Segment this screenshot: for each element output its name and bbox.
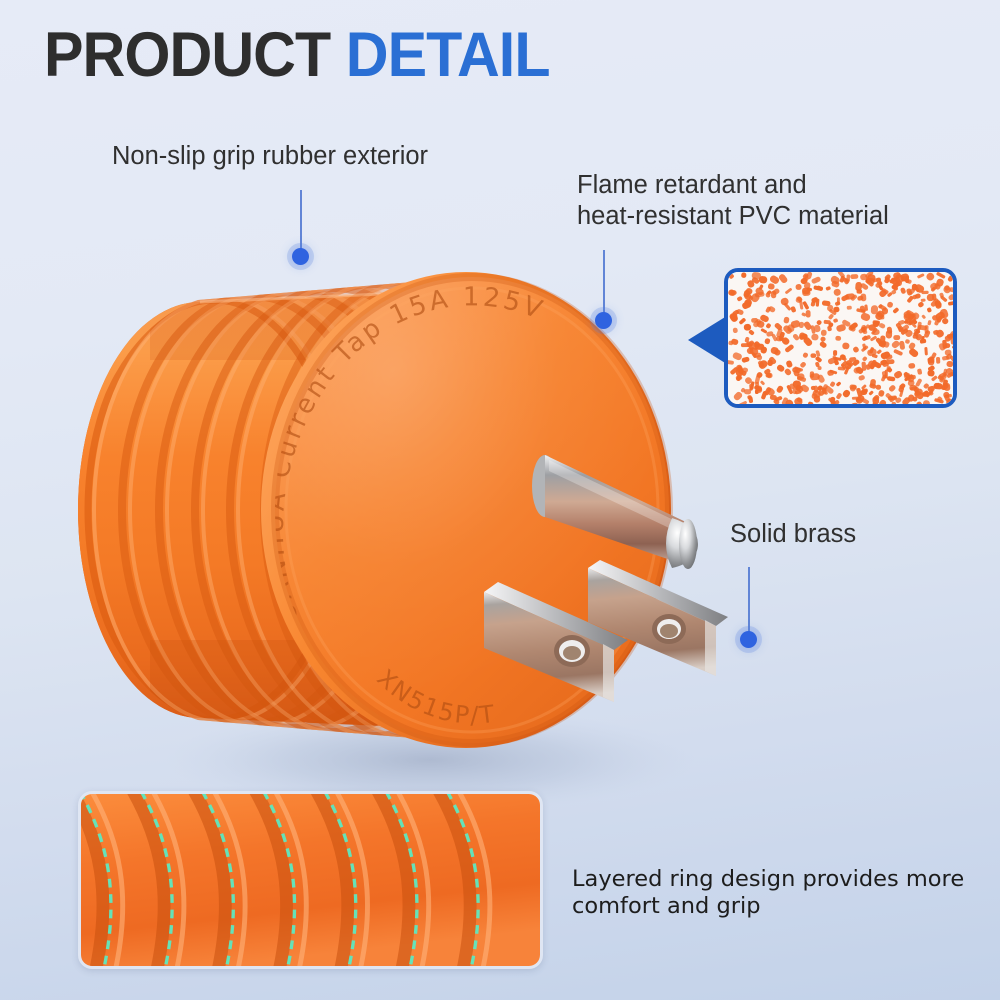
inset-pvc-pellets: [724, 268, 957, 408]
inset-layered-rings: [78, 791, 543, 969]
leader-line-brass: [748, 567, 750, 641]
marker-dot-pvc: [595, 312, 612, 329]
callout-label-rings: Layered ring design provides more comfor…: [572, 866, 964, 919]
marker-dot-brass: [740, 631, 757, 648]
callout-label-grip: Non-slip grip rubber exterior: [112, 141, 428, 172]
marker-dot-grip: [292, 248, 309, 265]
callout-label-pvc: Flame retardant and heat-resistant PVC m…: [577, 170, 889, 232]
callout-label-brass: Solid brass: [730, 519, 856, 550]
